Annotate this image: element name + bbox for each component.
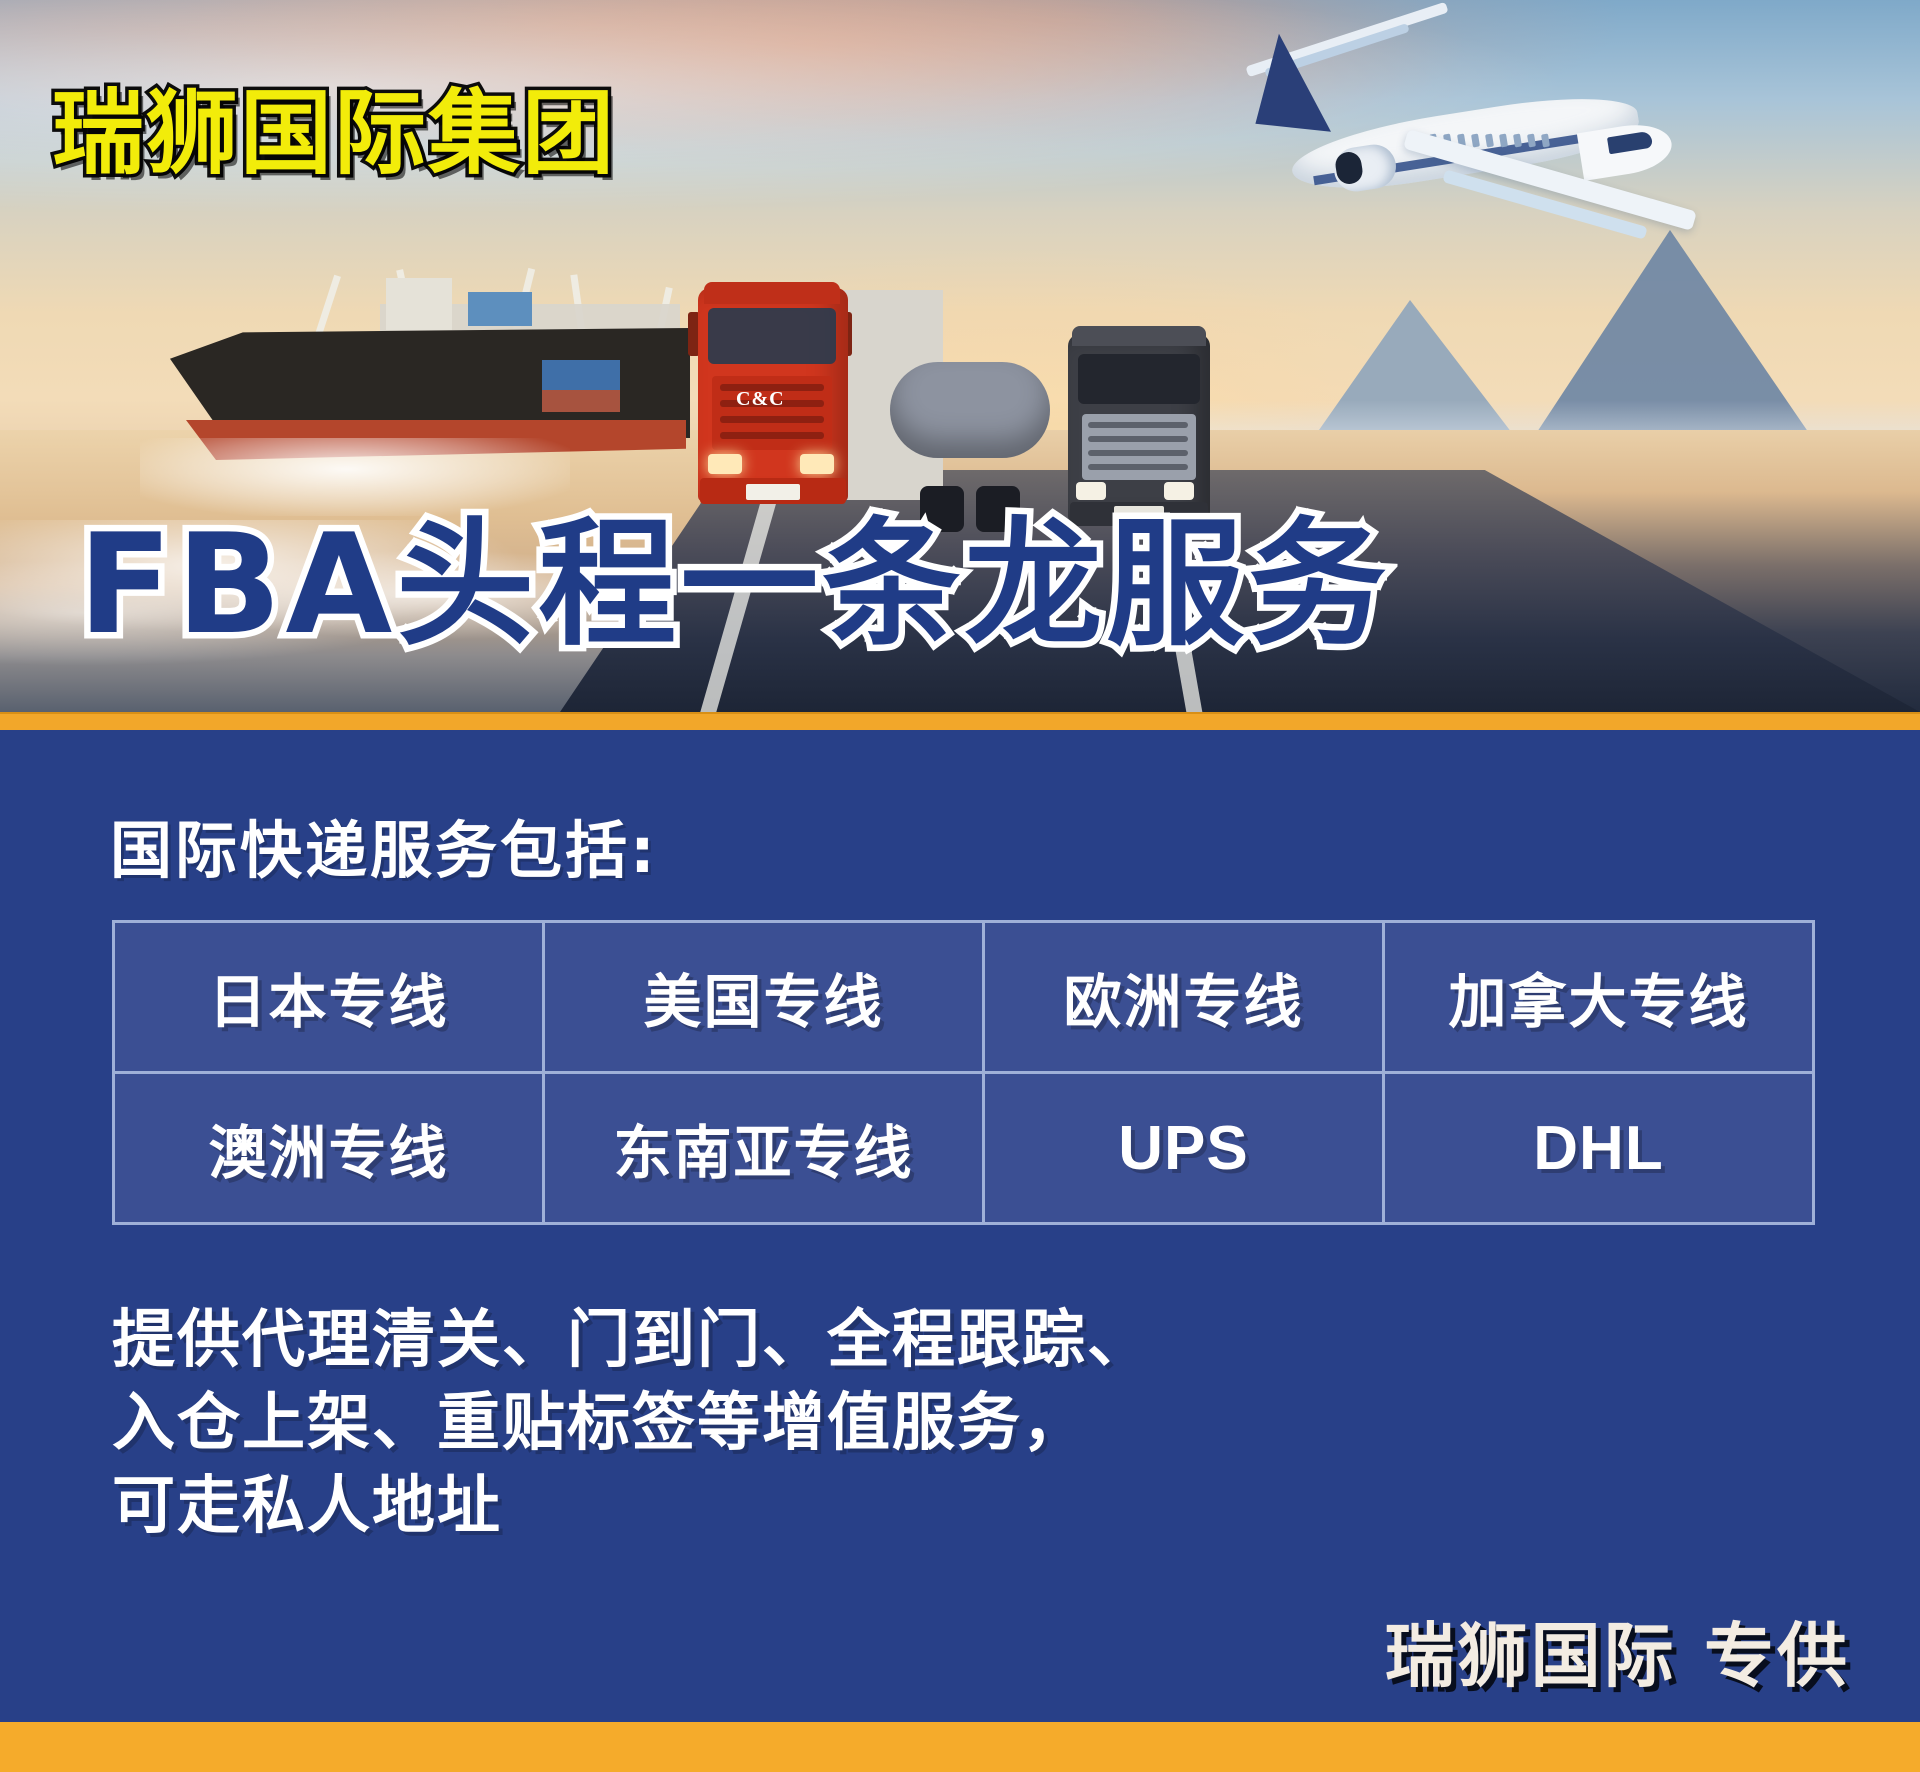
airplane-icon [1250,30,1710,260]
service-table-body: 日本专线 美国专线 欧洲专线 加拿大专线 澳洲专线 东南亚专线 UPS DHL [114,922,1814,1224]
cargo-ship-icon [150,268,710,518]
table-row: 澳洲专线 东南亚专线 UPS DHL [114,1073,1814,1224]
bottom-accent-bar [0,1722,1920,1772]
panel-title: 国际快递服务包括: [110,800,658,890]
body-line: 提供代理清关、门到门、全程跟踪、 [112,1298,1512,1381]
service-cell-dhl[interactable]: DHL [1384,1073,1814,1224]
company-logo-text: 瑞狮国际集团 [52,88,616,180]
body-line: 入仓上架、重贴标签等增值服务， [112,1381,1512,1464]
service-cell[interactable]: 美国专线 [544,922,984,1073]
signature-text: 瑞狮国际 专供 [1385,1600,1850,1701]
table-row: 日本专线 美国专线 欧洲专线 加拿大专线 [114,922,1814,1073]
poster-root: C&C [0,0,1920,1772]
service-cell[interactable]: 东南亚专线 [544,1073,984,1224]
service-cell[interactable]: 加拿大专线 [1384,922,1814,1073]
value-added-services-text: 提供代理清关、门到门、全程跟踪、 入仓上架、重贴标签等增值服务， 可走私人地址 [112,1298,1512,1547]
service-table: 日本专线 美国专线 欧洲专线 加拿大专线 澳洲专线 东南亚专线 UPS DHL [112,920,1815,1225]
service-cell[interactable]: 澳洲专线 [114,1073,544,1224]
truck-brand-label: C&C [736,388,806,410]
body-line: 可走私人地址 [112,1464,1512,1547]
hero-headline: FBA头程一条龙服务 [78,516,1390,654]
service-cell-ups[interactable]: UPS [984,1073,1384,1224]
hero-banner: C&C [0,0,1920,712]
service-cell[interactable]: 日本专线 [114,922,544,1073]
service-cell[interactable]: 欧洲专线 [984,922,1384,1073]
